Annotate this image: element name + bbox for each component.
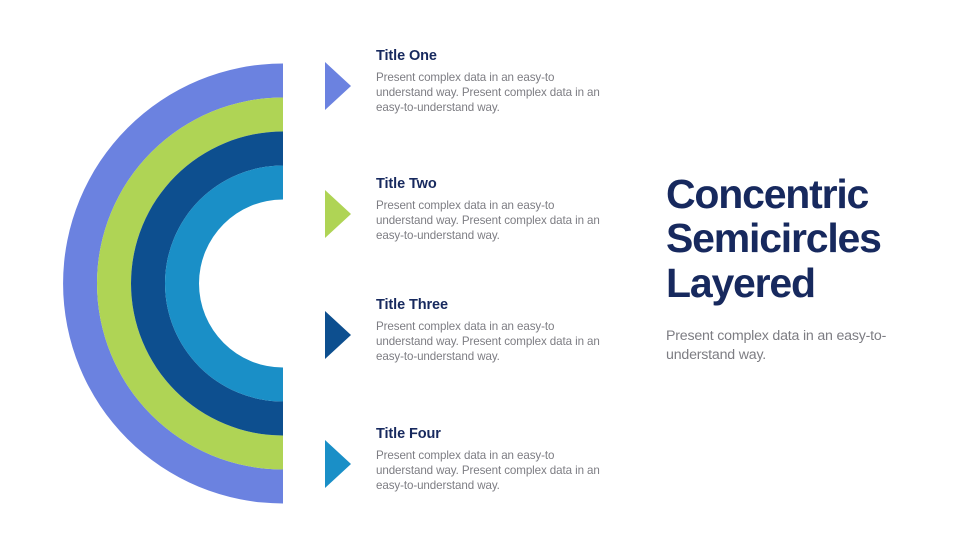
- list-item-body: Title One Present complex data in an eas…: [376, 48, 615, 115]
- list-item-title: Title Two: [376, 176, 615, 192]
- list-item-body: Title Three Present complex data in an e…: [376, 297, 615, 364]
- concentric-semicircles-diagram: [63, 63, 283, 504]
- list-item-title: Title Four: [376, 426, 615, 442]
- page-title: Concentric Semicircles Layered: [666, 172, 946, 305]
- items-list: Title One Present complex data in an eas…: [325, 48, 615, 526]
- triangle-right-icon: [325, 311, 351, 359]
- list-item-body: Title Two Present complex data in an eas…: [376, 176, 615, 243]
- infographic-slide: Title One Present complex data in an eas…: [0, 0, 980, 551]
- list-item[interactable]: Title Two Present complex data in an eas…: [325, 176, 615, 297]
- page-subtitle: Present complex data in an easy-to-under…: [666, 327, 910, 365]
- list-item-body: Title Four Present complex data in an ea…: [376, 426, 615, 493]
- list-item-text: Present complex data in an easy-to under…: [376, 199, 608, 243]
- list-item-text: Present complex data in an easy-to under…: [376, 320, 608, 364]
- list-item-text: Present complex data in an easy-to under…: [376, 71, 608, 115]
- triangle-right-icon: [325, 190, 351, 238]
- list-item-text: Present complex data in an easy-to under…: [376, 449, 608, 493]
- list-item[interactable]: Title Four Present complex data in an ea…: [325, 426, 615, 526]
- list-item[interactable]: Title One Present complex data in an eas…: [325, 48, 615, 176]
- headline-block: Concentric Semicircles Layered Present c…: [666, 172, 946, 365]
- list-item-title: Title One: [376, 48, 615, 64]
- list-item[interactable]: Title Three Present complex data in an e…: [325, 297, 615, 426]
- list-item-title: Title Three: [376, 297, 615, 313]
- triangle-right-icon: [325, 62, 351, 110]
- triangle-right-icon: [325, 440, 351, 488]
- rings-svg: [63, 63, 283, 504]
